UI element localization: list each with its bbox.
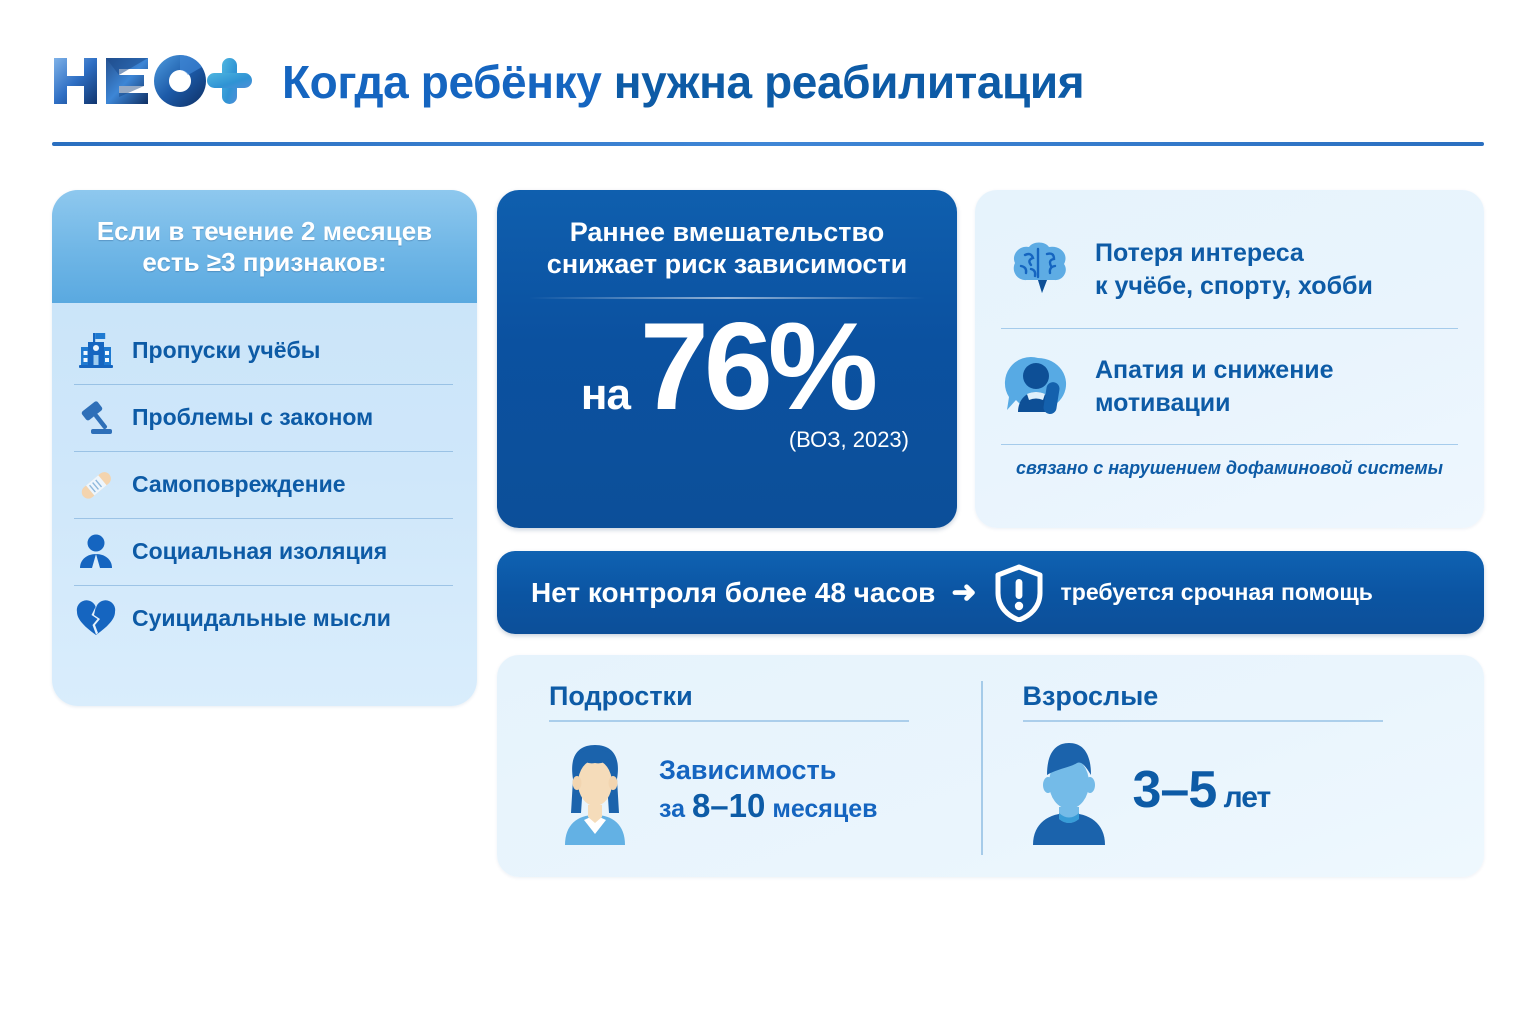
teens-duration-value: 8–10: [692, 787, 765, 824]
symptoms-card: Потеря интереса к учёбе, спорту, хобби А…: [975, 190, 1484, 528]
teens-line1: Зависимость: [659, 755, 878, 787]
adults-duration-unit: лет: [1216, 781, 1270, 814]
symptom-text-line2: к учёбе, спорту, хобби: [1095, 272, 1373, 300]
symptom-text-line1: Апатия и снижение: [1095, 356, 1334, 384]
list-item: Пропуски учёбы: [74, 317, 453, 384]
brain-icon: [1001, 233, 1075, 307]
teens-line2-suffix: месяцев: [765, 795, 877, 823]
teens-line2-prefix: за: [659, 795, 692, 823]
symptom-text: Потеря интереса к учёбе, спорту, хобби: [1095, 237, 1373, 303]
stat-value-row: на 76%: [497, 305, 957, 429]
adult-man-avatar: [1023, 735, 1115, 845]
apathy-person-icon: [1001, 350, 1075, 424]
list-item-label: Суицидальные мысли: [132, 606, 391, 631]
list-item-label: Пропуски учёбы: [132, 338, 320, 363]
symptom-row: Апатия и снижение мотивации: [1001, 328, 1458, 444]
header: Когда ребёнку нужна реабилитация: [52, 42, 1484, 152]
warning-signs-header-line1: Если в течение 2 месяцев: [97, 216, 432, 247]
broken-heart-icon: [74, 597, 118, 641]
teens-line2: за 8–10 месяцев: [659, 787, 878, 826]
adults-column: Взрослые 3–5 лет: [981, 681, 1455, 855]
stat-headline-line2: снижает риск зависимости: [521, 248, 933, 280]
teen-girl-avatar: [549, 735, 641, 845]
urgent-banner-tail-text: требуется срочная помощь: [1061, 579, 1373, 606]
teens-text: Зависимость за 8–10 месяцев: [659, 755, 878, 826]
teens-column: Подростки Зависимость: [527, 681, 981, 855]
adults-divider: [1023, 720, 1383, 722]
early-intervention-stat-card: Раннее вмешательство снижает риск зависи…: [497, 190, 957, 528]
warning-signs-header: Если в течение 2 месяцев есть ≥3 признак…: [52, 190, 477, 303]
stat-headline-line1: Раннее вмешательство: [521, 216, 933, 248]
teens-divider: [549, 720, 909, 722]
page-title-part1: Когда ребёнку: [282, 56, 601, 108]
adults-duration-value: 3–5: [1133, 761, 1217, 819]
warning-signs-list: Пропуски учёбы Проблемы с законом: [52, 303, 477, 670]
school-icon: [74, 329, 118, 373]
neo-plus-logo-icon: [52, 50, 264, 112]
warning-signs-header-line2: есть ≥3 признаков:: [142, 247, 386, 278]
person-icon: [74, 530, 118, 574]
symptom-text-line1: Потеря интереса: [1095, 239, 1304, 267]
list-item: Самоповреждение: [74, 451, 453, 518]
arrow-right-icon: ➜: [951, 578, 976, 608]
header-divider: [52, 142, 1484, 146]
symptom-text: Апатия и снижение мотивации: [1095, 354, 1334, 420]
timeline-comparison-card: Подростки Зависимость: [497, 655, 1484, 877]
stat-prefix: на: [581, 370, 630, 420]
urgent-banner: Нет контроля более 48 часов ➜ требуется …: [497, 551, 1484, 634]
list-item: Проблемы с законом: [74, 384, 453, 451]
list-item: Суицидальные мысли: [74, 585, 453, 652]
warning-signs-card: Если в течение 2 месяцев есть ≥3 признак…: [52, 190, 477, 706]
symptom-row: Потеря интереса к учёбе, спорту, хобби: [1001, 212, 1458, 328]
adults-duration: 3–5 лет: [1133, 760, 1271, 820]
symptom-text-line2: мотивации: [1095, 389, 1230, 417]
list-item-label: Самоповреждение: [132, 472, 346, 497]
teens-title: Подростки: [549, 681, 959, 712]
list-item-label: Социальная изоляция: [132, 539, 387, 564]
stat-headline: Раннее вмешательство снижает риск зависи…: [497, 190, 957, 281]
adults-title: Взрослые: [1023, 681, 1433, 712]
shield-alert-icon: [993, 564, 1045, 622]
bandage-icon: [74, 463, 118, 507]
symptoms-footnote: связано с нарушением дофаминовой системы: [1001, 444, 1458, 479]
stat-value: 76%: [640, 305, 873, 429]
page-title-part2: нужна реабилитация: [614, 56, 1084, 108]
list-item-label: Проблемы с законом: [132, 405, 373, 430]
infographic-page: Когда ребёнку нужна реабилитация Если в …: [0, 0, 1536, 1024]
page-title: Когда ребёнку нужна реабилитация: [282, 59, 1084, 105]
urgent-banner-main-text: Нет контроля более 48 часов: [531, 577, 935, 609]
gavel-icon: [74, 396, 118, 440]
list-item: Социальная изоляция: [74, 518, 453, 585]
